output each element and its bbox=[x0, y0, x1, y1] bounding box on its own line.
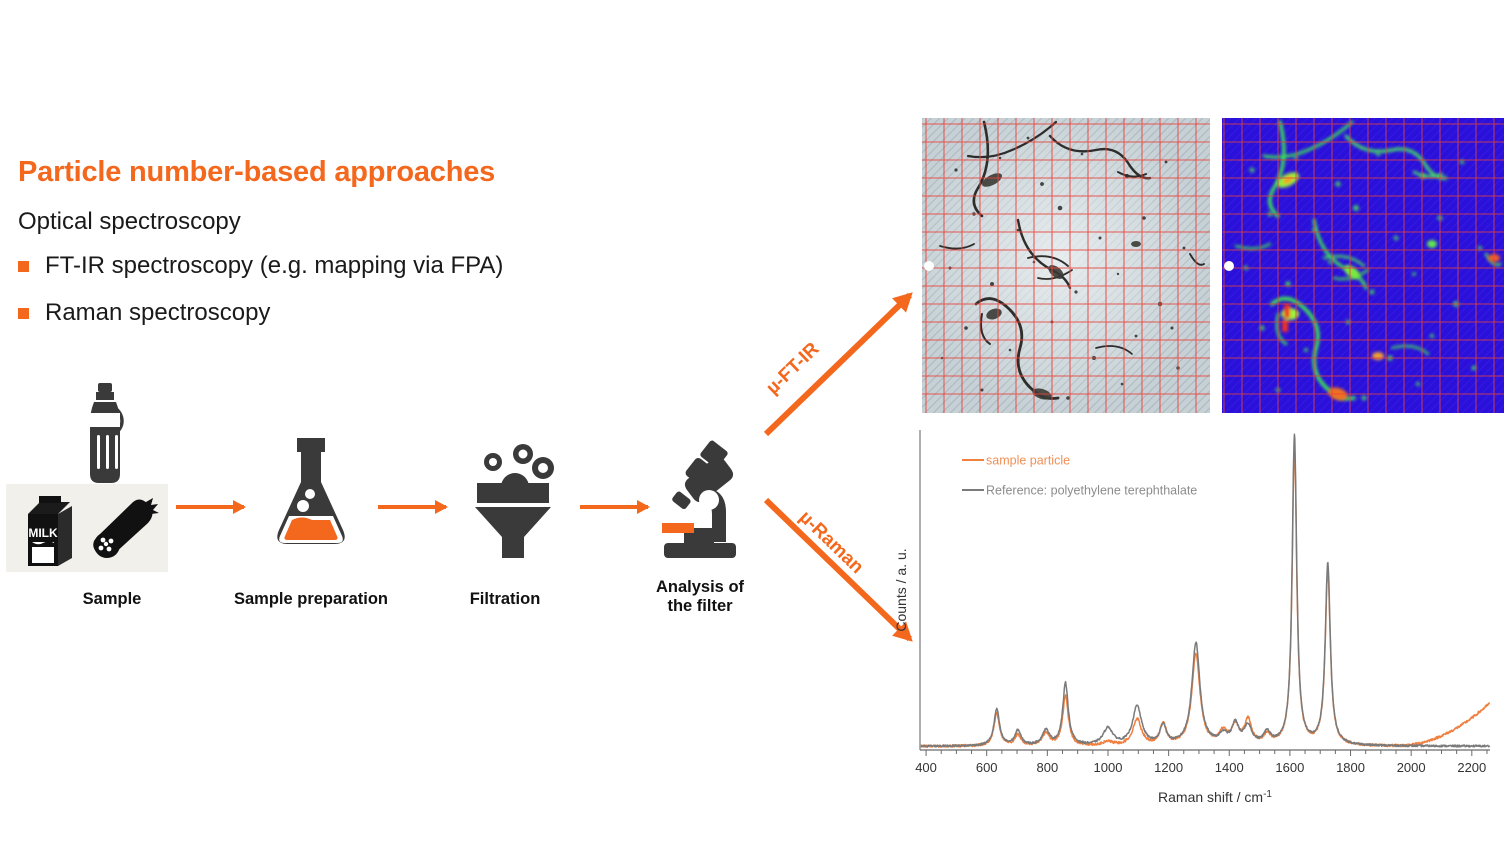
x-tick-label: 1000 bbox=[1094, 760, 1123, 775]
chemical-map-image bbox=[1222, 118, 1504, 413]
scale-marker bbox=[1224, 261, 1234, 271]
analysis-label-line2: the filter bbox=[667, 597, 732, 615]
bullet-label: FT-IR spectroscopy (e.g. mapping via FPA… bbox=[45, 252, 503, 280]
workflow-arrow-1 bbox=[176, 505, 244, 509]
x-tick-label: 1600 bbox=[1275, 760, 1304, 775]
workflow-label-filtration: Filtration bbox=[430, 590, 580, 609]
scale-marker bbox=[924, 261, 934, 271]
y-axis-label: Counts / a. u. bbox=[893, 548, 909, 631]
funnel-icon bbox=[455, 443, 559, 558]
x-axis-label: Raman shift / cm-1 bbox=[1158, 789, 1272, 805]
bullet-label: Raman spectroscopy bbox=[45, 299, 270, 327]
brightfield-filter-image bbox=[922, 118, 1210, 413]
x-tick-label: 1200 bbox=[1154, 760, 1183, 775]
page-title: Particle number-based approaches bbox=[18, 156, 495, 189]
workflow-label-sample-preparation: Sample preparation bbox=[196, 590, 426, 609]
workflow-arrow-3 bbox=[580, 505, 648, 509]
erlenmeyer-flask-icon bbox=[266, 438, 356, 558]
x-tick-label: 2200 bbox=[1457, 760, 1486, 775]
bullet-item-raman: Raman spectroscopy bbox=[18, 299, 270, 327]
water-bottle-icon bbox=[78, 383, 132, 487]
workflow-arrow-2 bbox=[378, 505, 446, 509]
analysis-label-line1: Analysis of bbox=[656, 578, 744, 596]
workflow-label-analysis: Analysis of the filter bbox=[620, 578, 780, 617]
bullet-square-icon bbox=[18, 261, 29, 272]
x-tick-label: 1400 bbox=[1215, 760, 1244, 775]
sausage-icon bbox=[88, 498, 160, 564]
x-tick-label: 600 bbox=[976, 760, 998, 775]
milk-carton-icon: MILK bbox=[22, 492, 78, 568]
legend-label: Reference: polyethylene terephthalate bbox=[986, 484, 1197, 498]
bullet-item-ftir: FT-IR spectroscopy (e.g. mapping via FPA… bbox=[18, 252, 503, 280]
bullet-square-icon bbox=[18, 308, 29, 319]
milk-label: MILK bbox=[28, 526, 58, 540]
x-tick-label: 400 bbox=[915, 760, 937, 775]
microscope-icon bbox=[640, 440, 764, 565]
raman-spectrum-chart: 4006008001000120014001600180020002200Ram… bbox=[890, 420, 1500, 820]
x-tick-label: 1800 bbox=[1336, 760, 1365, 775]
chart-canvas: 4006008001000120014001600180020002200Ram… bbox=[890, 420, 1500, 820]
x-tick-label: 2000 bbox=[1397, 760, 1426, 775]
workflow-label-sample: Sample bbox=[42, 590, 182, 609]
legend-label: sample particle bbox=[986, 454, 1070, 468]
subtitle: Optical spectroscopy bbox=[18, 208, 241, 236]
presentation-slide: Particle number-based approaches Optical… bbox=[0, 0, 1504, 846]
x-tick-label: 800 bbox=[1036, 760, 1058, 775]
